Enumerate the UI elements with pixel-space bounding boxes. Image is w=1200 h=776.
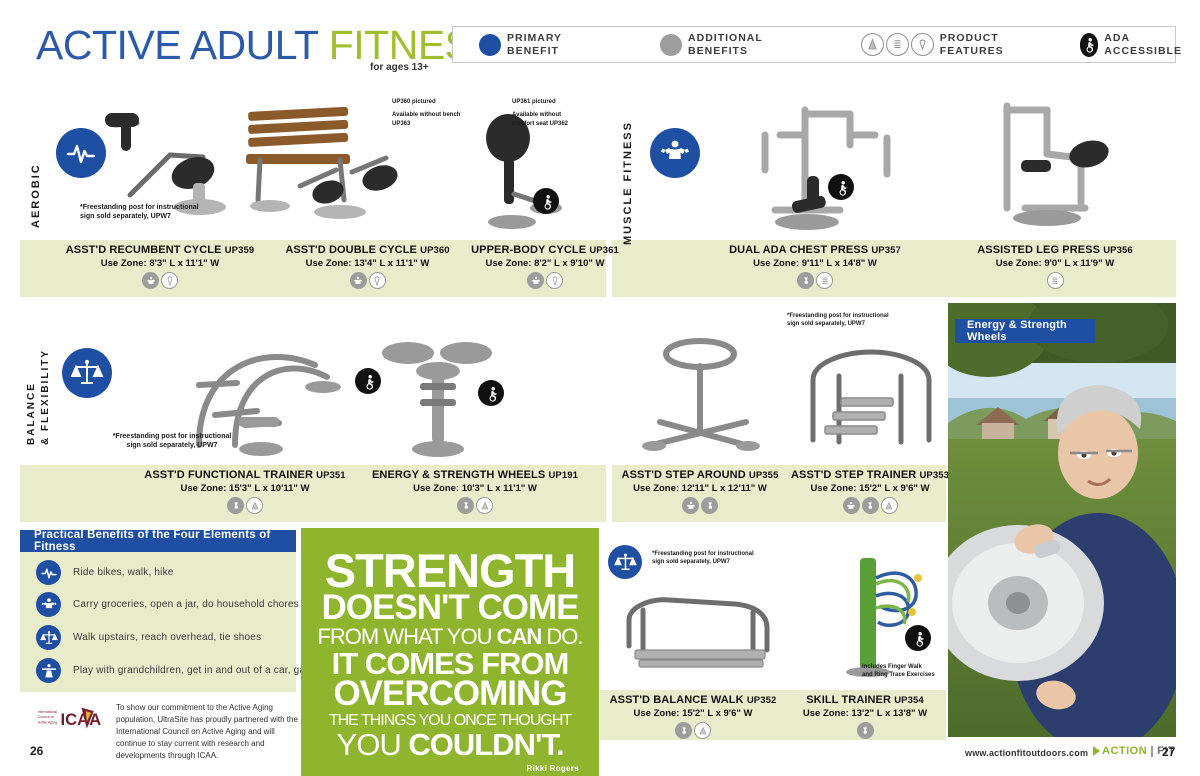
note-freestanding-4: *Freestanding post for instructional sig…: [652, 550, 762, 567]
svg-text:ICAA: ICAA: [61, 710, 102, 729]
benefit-row-3: Walk upstairs, reach overhead, tie shoes: [36, 625, 261, 650]
product-art-balance-walk: [615, 580, 795, 690]
product-caption-up359: ASST'D RECUMBENT CYCLE UP359 Use Zone: 8…: [40, 244, 280, 289]
product-art-skill-trainer: [812, 538, 942, 678]
product-benefit-icons: [420, 272, 670, 289]
product-use-zone: Use Zone: 8'3" L x 11'1" W: [40, 258, 280, 269]
gray-circle-icon: [660, 34, 682, 56]
product-caption-up357: DUAL ADA CHEST PRESS UP357 Use Zone: 9'1…: [690, 244, 940, 289]
heartbeat-icon: [36, 560, 61, 585]
quote-line-6: THE THINGS YOU ONCE THOUGHT: [309, 714, 591, 728]
product-benefit-icons: [340, 497, 610, 514]
section-label-muscle: MUSCLE FITNESS: [622, 95, 634, 245]
product-benefit-icons: [690, 272, 940, 289]
note-freestanding-3: *Freestanding post for instructional sig…: [787, 312, 893, 329]
balance-cone-icon: [476, 497, 493, 514]
product-name: ASST'D STEP TRAINER UP353: [770, 469, 970, 481]
balance-cone-icon: [694, 722, 711, 739]
legend-label-additional: ADDITIONAL BENEFITS: [688, 32, 763, 56]
icaa-logo: International Council on Active Aging IC…: [36, 702, 106, 762]
balance-cone-icon: [881, 497, 898, 514]
note-skill-trainer: Includes Finger Walk and Ring Trace Exer…: [862, 663, 958, 680]
person-stretch-icon: [36, 658, 61, 683]
ada-accessible-icon: [1080, 33, 1099, 57]
product-name: DUAL ADA CHEST PRESS UP357: [690, 244, 940, 256]
product-name: ASST'D RECUMBENT CYCLE UP359: [40, 244, 280, 256]
legend-item-additional-benefits: ADDITIONAL BENEFITS: [650, 27, 773, 62]
quote-line-4: IT COMES FROM: [309, 650, 591, 677]
product-use-zone: Use Zone: 15'2" L x 9'6" W: [770, 483, 970, 494]
muscle-icon: [36, 592, 61, 617]
product-benefit-icons: [598, 722, 788, 739]
legend-item-product-features: PRODUCT FEATURES: [851, 27, 1014, 62]
scales-icon: [62, 348, 112, 398]
blue-circle-icon: [479, 34, 501, 56]
play-triangle-icon: [1093, 746, 1100, 756]
spring-icon: [816, 272, 833, 289]
weight-icon: [227, 497, 244, 514]
weight-icon: [457, 497, 474, 514]
product-use-zone: Use Zone: 9'0" L x 11'9" W: [940, 258, 1170, 269]
svg-text:Council on: Council on: [38, 715, 55, 719]
legend: PRIMARY BENEFIT ADDITIONAL BENEFITS: [452, 26, 1176, 63]
benefit-row-1: Ride bikes, walk, hike: [36, 560, 174, 585]
section-label-balance-line2: & FLEXIBILITY: [40, 330, 51, 445]
spring-icon: [1047, 272, 1064, 289]
brand-divider: [1151, 746, 1153, 757]
weight-icon: [862, 497, 879, 514]
product-art-step-trainer: [795, 330, 945, 465]
benefit-text: Carry groceries, open a jar, do househol…: [73, 599, 299, 610]
lifestyle-photo: [948, 303, 1176, 737]
quote-line-1: STRENGTH: [309, 550, 591, 591]
svg-text:Active Aging: Active Aging: [38, 720, 57, 724]
muscle-icon: [350, 272, 367, 289]
title-part-1: ACTIVE ADULT: [36, 22, 329, 68]
quote-line-3: FROM WHAT YOU CAN DO.: [309, 627, 591, 646]
product-caption-up191: ENERGY & STRENGTH WHEELS UP191 Use Zone:…: [340, 469, 610, 514]
quote-line-7: YOU COULDN'T.: [309, 731, 591, 758]
product-name: UPPER-BODY CYCLE UP361: [420, 244, 670, 256]
legend-label-ada: ADA ACCESSIBLE: [1104, 32, 1187, 56]
product-caption-up356: ASSISTED LEG PRESS UP356 Use Zone: 9'0" …: [940, 244, 1170, 289]
note-up360-pictured: UP360 pictured Available without bench U…: [392, 98, 462, 128]
product-caption-up353: ASST'D STEP TRAINER UP353 Use Zone: 15'2…: [770, 469, 970, 514]
weight-pin-icon: [911, 33, 934, 56]
product-name: ASSISTED LEG PRESS UP356: [940, 244, 1170, 256]
product-use-zone: Use Zone: 9'11" L x 14'8" W: [690, 258, 940, 269]
benefit-row-2: Carry groceries, open a jar, do househol…: [36, 592, 299, 617]
muscle-icon: [650, 128, 700, 178]
benefit-text: Walk upstairs, reach overhead, tie shoes: [73, 632, 261, 643]
benefit-text: Ride bikes, walk, hike: [73, 567, 174, 578]
note-up361-pictured: UP361 pictured Available without comfort…: [512, 98, 578, 128]
website-url[interactable]: www.actionfitoutdoors.com: [965, 748, 1088, 758]
flexibility-icon: [369, 272, 386, 289]
product-caption-up354: SKILL TRAINER UP354 Use Zone: 13'2" L x …: [780, 694, 950, 739]
quote-line-2: DOESN'T COME: [309, 593, 591, 624]
ada-badge-skill-trainer: [905, 625, 931, 651]
product-caption-up361: UPPER-BODY CYCLE UP361 Use Zone: 8'2" L …: [420, 244, 670, 289]
icaa-text: To show our commitment to the Active Agi…: [116, 702, 306, 762]
benefit-text: Play with grandchildren, get in and out …: [73, 665, 326, 676]
photo-caption: Energy & Strength Wheels: [955, 319, 1095, 343]
product-use-zone: Use Zone: 10'3" L x 11'1" W: [340, 483, 610, 494]
benefit-row-4: Play with grandchildren, get in and out …: [36, 658, 326, 683]
muscle-icon: [142, 272, 159, 289]
flexibility-icon: [546, 272, 563, 289]
product-benefit-icons: [40, 272, 280, 289]
legend-label-primary: PRIMARY BENEFIT: [507, 32, 562, 56]
weight-icon: [701, 497, 718, 514]
weight-icon: [857, 722, 874, 739]
muscle-icon: [843, 497, 860, 514]
quote-author: Rikki Rogers: [309, 764, 591, 773]
weight-icon: [797, 272, 814, 289]
product-use-zone: Use Zone: 13'2" L x 13'8" W: [780, 708, 950, 719]
note-freestanding-1: *Freestanding post for instructional sig…: [80, 203, 210, 222]
page-header: ACTIVE ADULT FITNESS for ages 13+ PRIMAR…: [0, 0, 1200, 78]
ada-badge-chest-press: [828, 174, 854, 200]
quote-line-5: OVERCOMING: [309, 679, 591, 710]
product-benefit-icons: [940, 272, 1170, 289]
svg-text:International: International: [38, 710, 57, 714]
brand-action: ACTION: [1102, 745, 1147, 757]
benefits-panel-title: Practical Benefits of the Four Elements …: [20, 530, 296, 552]
scales-icon: [36, 625, 61, 650]
product-benefit-icons: [770, 497, 970, 514]
product-art-chest-press: [745, 90, 915, 240]
legend-label-features: PRODUCT FEATURES: [940, 32, 1004, 56]
scales-icon-small: [608, 545, 642, 579]
quote-block: STRENGTH DOESN'T COME FROM WHAT YOU CAN …: [301, 528, 599, 776]
product-name: ASST'D BALANCE WALK UP352: [598, 694, 788, 706]
ada-badge-functional-trainer: [355, 368, 381, 394]
product-use-zone: Use Zone: 15'2" L x 9'6" W: [598, 708, 788, 719]
catalog-page: ACTIVE ADULT FITNESS for ages 13+ PRIMAR…: [0, 0, 1200, 776]
product-art-step-around: [630, 330, 770, 465]
product-name: ENERGY & STRENGTH WHEELS UP191: [340, 469, 610, 481]
age-range-label: for ages 13+: [370, 62, 429, 73]
product-name: SKILL TRAINER UP354: [780, 694, 950, 706]
legend-item-ada-accessible: ADA ACCESSIBLE: [1070, 27, 1198, 62]
product-use-zone: Use Zone: 8'2" L x 9'10" W: [420, 258, 670, 269]
page-number-left: 26: [30, 744, 43, 758]
ada-badge-upper-body-cycle: [533, 188, 559, 214]
legend-item-primary-benefit: PRIMARY BENEFIT: [469, 27, 572, 62]
icaa-partnership: International Council on Active Aging IC…: [36, 702, 306, 762]
product-art-leg-press: [985, 90, 1145, 240]
note-freestanding-2: *Freestanding post for instructional sig…: [110, 432, 234, 451]
product-benefit-icons: [780, 722, 950, 739]
weight-icon: [675, 722, 692, 739]
balance-cone-icon: [861, 33, 884, 56]
flexibility-icon: [161, 272, 178, 289]
spring-coil-icon: [886, 33, 909, 56]
product-features-icons: [861, 33, 934, 56]
muscle-icon: [527, 272, 544, 289]
muscle-icon: [682, 497, 699, 514]
page-title: ACTIVE ADULT FITNESS: [36, 22, 498, 69]
page-number-right: 27: [1162, 745, 1175, 759]
section-label-aerobic: AEROBIC: [30, 118, 42, 228]
section-label-balance-line1: BALANCE: [26, 330, 37, 445]
balance-cone-icon: [246, 497, 263, 514]
product-caption-up352: ASST'D BALANCE WALK UP352 Use Zone: 15'2…: [598, 694, 788, 739]
ada-badge-energy-wheels: [478, 380, 504, 406]
